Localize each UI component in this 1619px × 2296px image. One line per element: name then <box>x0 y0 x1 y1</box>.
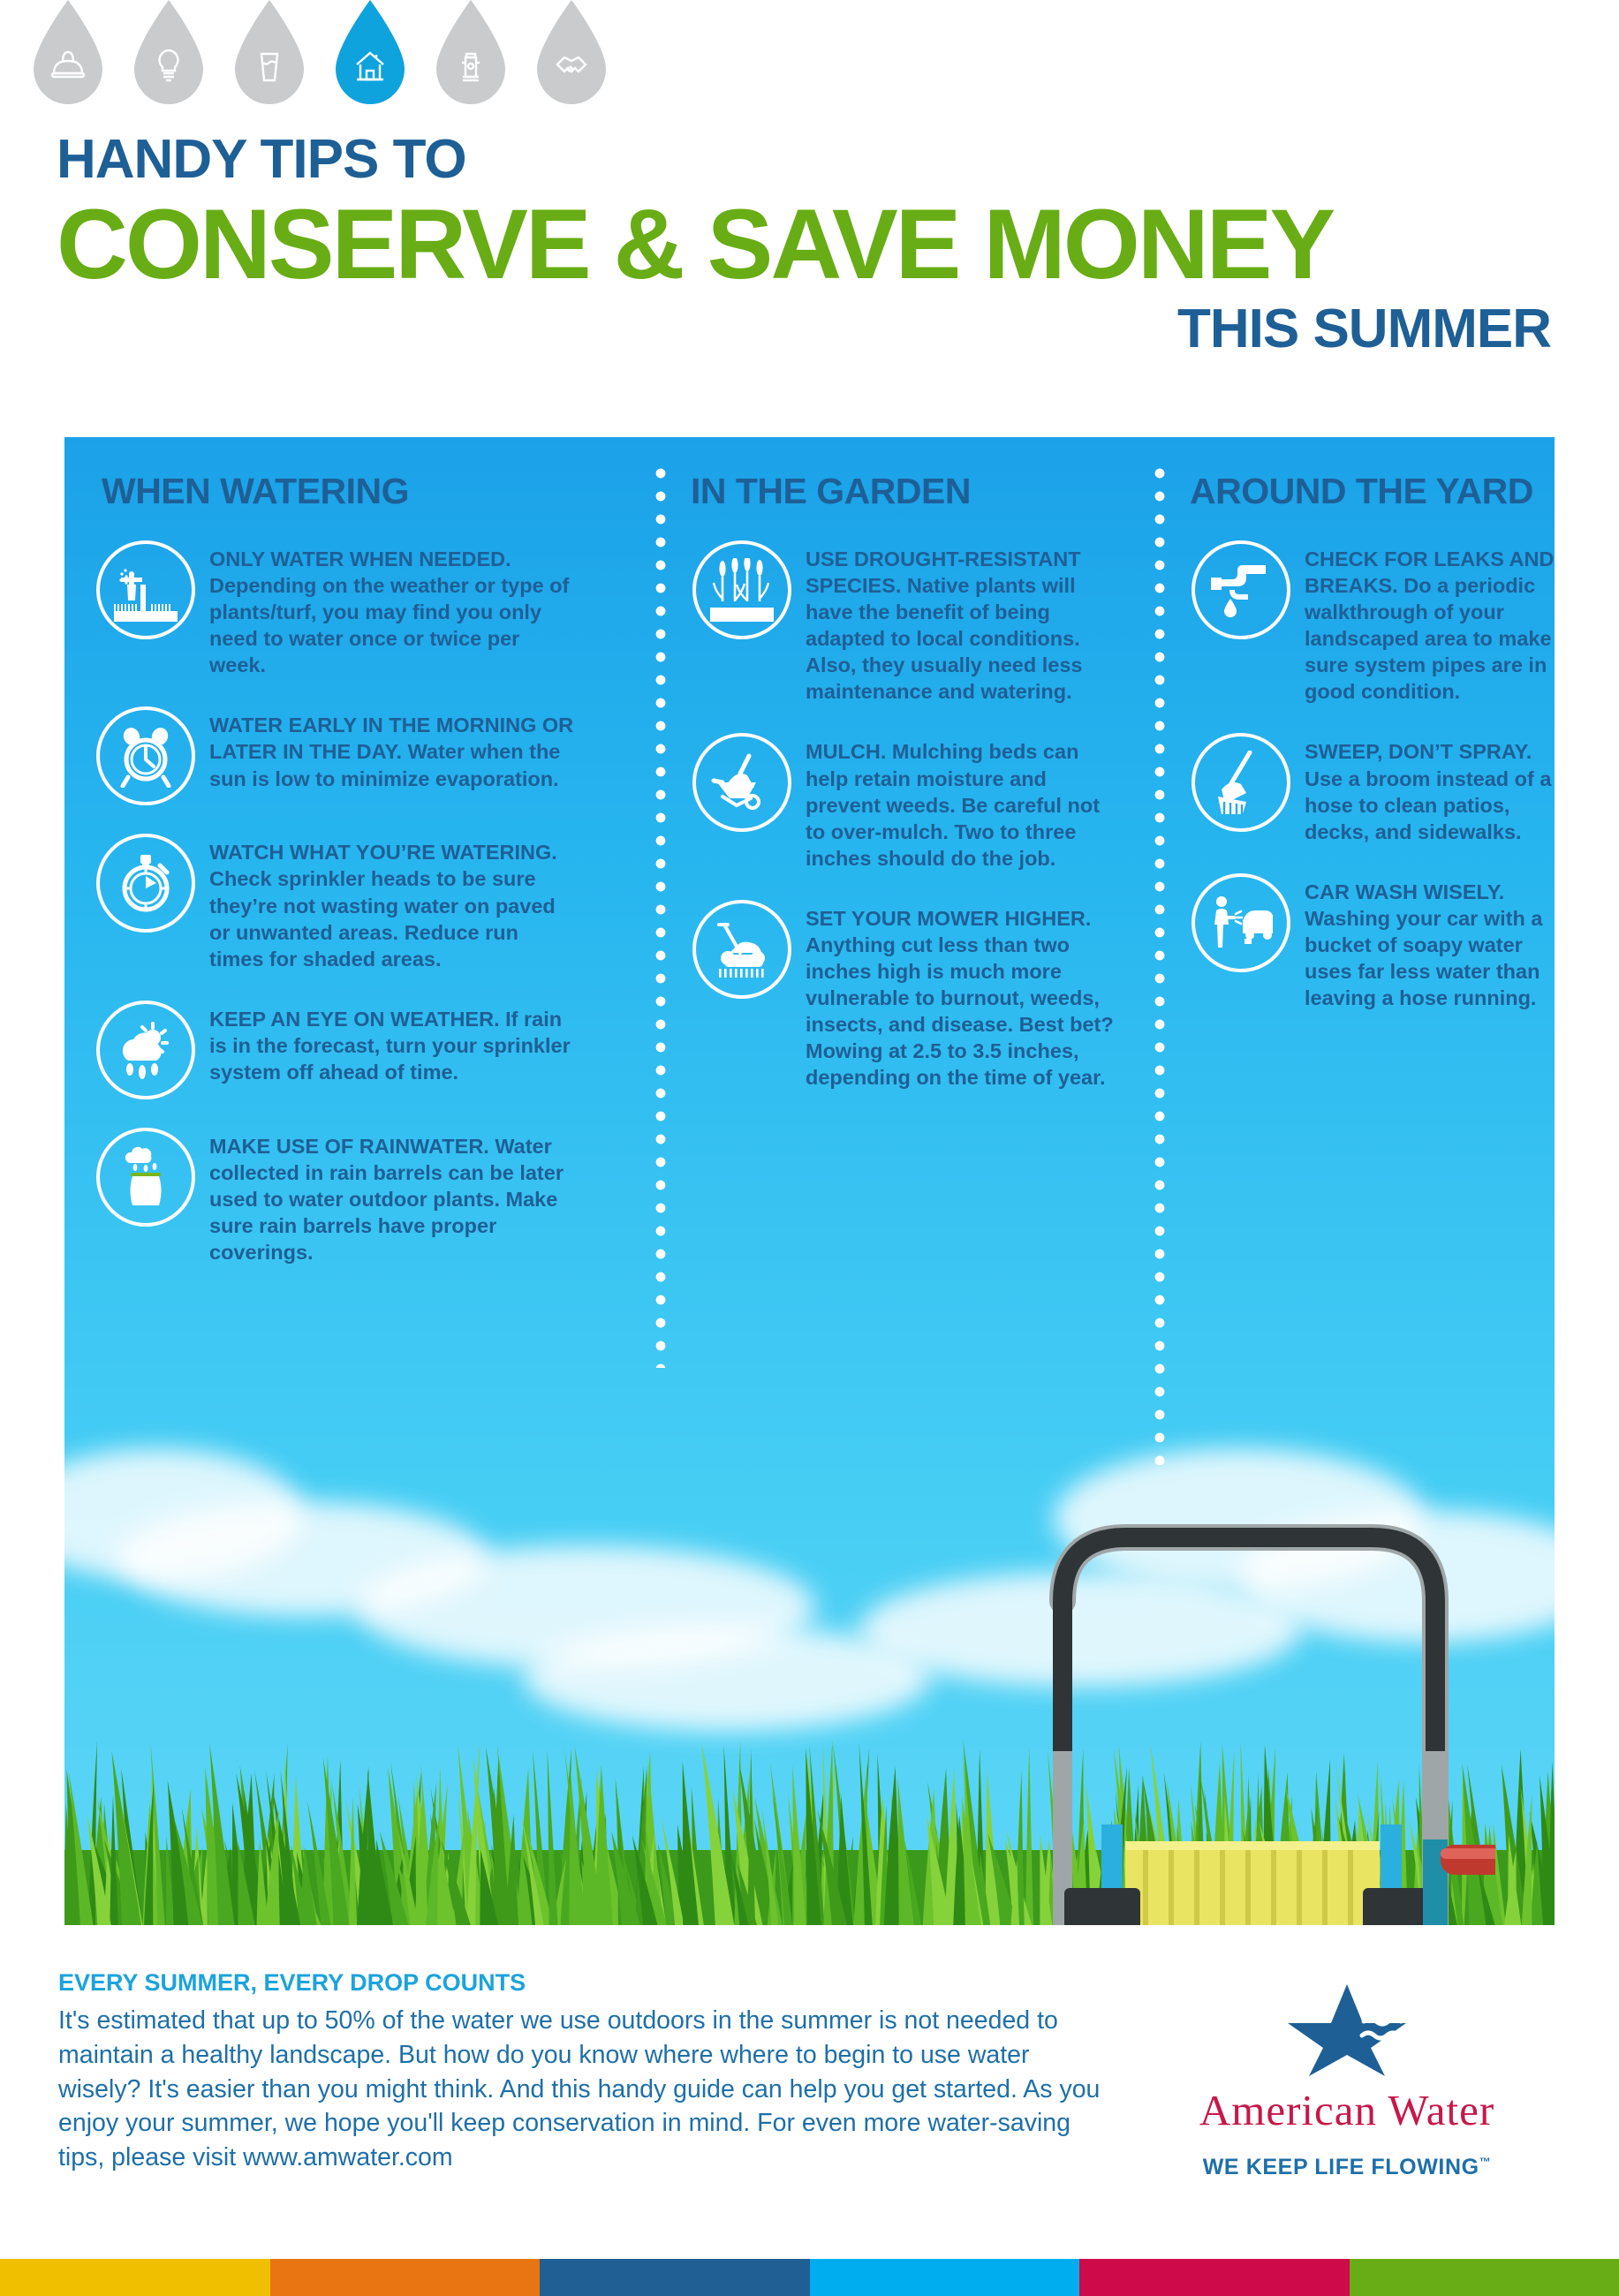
logo-tagline: WE KEEP LIFE FLOWING™ <box>1139 2155 1555 2180</box>
footer-block: EVERY SUMMER, EVERY DROP COUNTS It's est… <box>58 1969 1118 2175</box>
tip-text: ONLY WATER WHEN NEEDED. Depending on the… <box>209 540 576 678</box>
headline-block: HANDY TIPS TO CONSERVE & SAVE MONEY THIS… <box>57 132 1576 357</box>
footer-heading: EVERY SUMMER, EVERY DROP COUNTS <box>58 1969 1118 1997</box>
tip-body: Check sprinkler heads to be sure they’re… <box>209 867 556 970</box>
tip-text: SWEEP, DON’T SPRAY. Use a broom instead … <box>1305 733 1555 844</box>
logo-wordmark: American Water <box>1139 2085 1555 2135</box>
tip-item: WATER EARLY IN THE MORNING OR LATER IN T… <box>96 706 661 805</box>
tip-item: MULCH. Mulching beds can help retain moi… <box>692 733 1160 871</box>
tip-text: WATER EARLY IN THE MORNING OR LATER IN T… <box>209 706 576 805</box>
tip-body: Washing your car with a bucket of soapy … <box>1305 907 1542 1009</box>
lawn-mower-icon <box>692 900 791 999</box>
stopwatch-icon <box>96 834 195 933</box>
droplet-nav-item-water-glass[interactable] <box>235 0 304 104</box>
tip-item: CHECK FOR LEAKS AND BREAKS. Do a periodi… <box>1192 540 1555 705</box>
color-bar-segment <box>0 2259 270 2296</box>
tip-heading: MAKE USE OF RAINWATER. <box>209 1135 489 1158</box>
leaky-pipe-icon <box>1192 540 1290 639</box>
tip-list: ONLY WATER WHEN NEEDED. Depending on the… <box>64 540 661 1265</box>
tip-text: CHECK FOR LEAKS AND BREAKS. Do a periodi… <box>1305 540 1555 705</box>
droplet-nav <box>34 0 652 115</box>
tip-heading: KEEP AN EYE ON WEATHER. <box>209 1008 500 1031</box>
american-water-logo: American Water WE KEEP LIFE FLOWING™ <box>1139 1983 1555 2180</box>
tip-text: MULCH. Mulching beds can help retain moi… <box>806 733 1116 871</box>
color-bar-segment <box>1350 2259 1619 2296</box>
tip-body: Use a broom instead of a hose to clean p… <box>1305 767 1551 843</box>
tip-item: SET YOUR MOWER HIGHER. Anything cut less… <box>692 900 1160 1091</box>
tip-body: Depending on the weather or type of plan… <box>209 574 569 676</box>
droplet-nav-item-hard-hat[interactable] <box>34 0 102 104</box>
tip-heading: MULCH. <box>806 740 886 763</box>
water-glass-icon <box>235 42 304 87</box>
tips-panel: WHEN WATERING ONLY WATER WHEN NEEDED. De… <box>64 437 1555 1925</box>
droplet-nav-item-handshake[interactable] <box>537 0 606 104</box>
tip-text: SET YOUR MOWER HIGHER. Anything cut less… <box>806 900 1116 1091</box>
tip-text: WATCH WHAT YOU’RE WATERING. Check sprink… <box>209 834 576 971</box>
wheelbarrow-icon <box>692 733 791 832</box>
headline-eyebrow: HANDY TIPS TO <box>57 132 1576 187</box>
tip-heading: CAR WASH WISELY. <box>1305 880 1504 903</box>
tip-list: USE DROUGHT-RESISTANT SPECIES. Native pl… <box>661 540 1160 1091</box>
tip-heading: WATCH WHAT YOU’RE WATERING. <box>209 841 557 864</box>
house-icon <box>336 42 405 87</box>
sun-cloud-rain-icon <box>96 1001 195 1099</box>
page-title: CONSERVE & SAVE MONEY <box>57 193 1576 297</box>
tip-body: Anything cut less than two inches high i… <box>806 933 1114 1089</box>
tip-text: KEEP AN EYE ON WEATHER. If rain is in th… <box>209 1001 576 1099</box>
tip-heading: SET YOUR MOWER HIGHER. <box>806 907 1091 930</box>
logo-tagline-text: WE KEEP LIFE FLOWING <box>1203 2155 1479 2179</box>
hard-hat-icon <box>34 42 102 87</box>
column-around-the-yard: AROUND THE YARD CHECK FOR LEAKS AND BREA… <box>1160 437 1555 1011</box>
fire-hydrant-icon <box>436 42 505 87</box>
footer-body: It's estimated that up to 50% of the wat… <box>58 2004 1118 2175</box>
tip-item: ONLY WATER WHEN NEEDED. Depending on the… <box>96 540 661 678</box>
color-bar-segment <box>1079 2259 1350 2296</box>
droplet-nav-item-house[interactable] <box>336 0 405 104</box>
tip-heading: SWEEP, DON’T SPRAY. <box>1305 740 1532 763</box>
tip-list: CHECK FOR LEAKS AND BREAKS. Do a periodi… <box>1160 540 1555 1011</box>
droplet-nav-item-light-bulb[interactable] <box>134 0 203 104</box>
color-bar-segment <box>270 2259 541 2296</box>
tip-item: SWEEP, DON’T SPRAY. Use a broom instead … <box>1192 733 1555 844</box>
column-in-the-garden: IN THE GARDEN USE DROUGHT-RESISTANT SPEC… <box>661 437 1160 1091</box>
handshake-icon <box>537 42 606 87</box>
alarm-clock-icon <box>96 706 195 805</box>
tip-item: USE DROUGHT-RESISTANT SPECIES. Native pl… <box>692 540 1160 705</box>
broom-icon <box>1192 733 1290 832</box>
tip-item: WATCH WHAT YOU’RE WATERING. Check sprink… <box>96 834 661 971</box>
trademark-symbol: ™ <box>1479 2156 1492 2169</box>
tip-item: CAR WASH WISELY. Washing your car with a… <box>1192 873 1555 1011</box>
tip-text: CAR WASH WISELY. Washing your car with a… <box>1305 873 1555 1011</box>
color-bar-segment <box>540 2259 810 2296</box>
bottom-color-bar <box>0 2259 1619 2296</box>
star-waves-icon <box>1139 1983 1555 2078</box>
light-bulb-icon <box>134 42 203 87</box>
rain-barrel-icon <box>96 1128 195 1227</box>
sprinkler-icon <box>96 540 195 639</box>
column-title: AROUND THE YARD <box>1190 471 1555 512</box>
tip-text: MAKE USE OF RAINWATER. Water collected i… <box>209 1128 576 1265</box>
tip-text: USE DROUGHT-RESISTANT SPECIES. Native pl… <box>806 540 1116 705</box>
tip-item: MAKE USE OF RAINWATER. Water collected i… <box>96 1128 661 1265</box>
column-when-watering: WHEN WATERING ONLY WATER WHEN NEEDED. De… <box>64 437 661 1265</box>
car-wash-icon <box>1192 873 1290 972</box>
tip-item: KEEP AN EYE ON WEATHER. If rain is in th… <box>96 1001 661 1099</box>
wheat-plants-icon <box>692 540 791 639</box>
headline-subtitle: THIS SUMMER <box>57 302 1576 357</box>
column-title: IN THE GARDEN <box>691 471 1160 512</box>
droplet-nav-item-fire-hydrant[interactable] <box>436 0 505 104</box>
tip-heading: ONLY WATER WHEN NEEDED. <box>209 548 511 570</box>
color-bar-segment <box>810 2259 1080 2296</box>
hose-reel-cart-illustration <box>1001 1522 1495 1925</box>
column-title: WHEN WATERING <box>102 471 661 512</box>
